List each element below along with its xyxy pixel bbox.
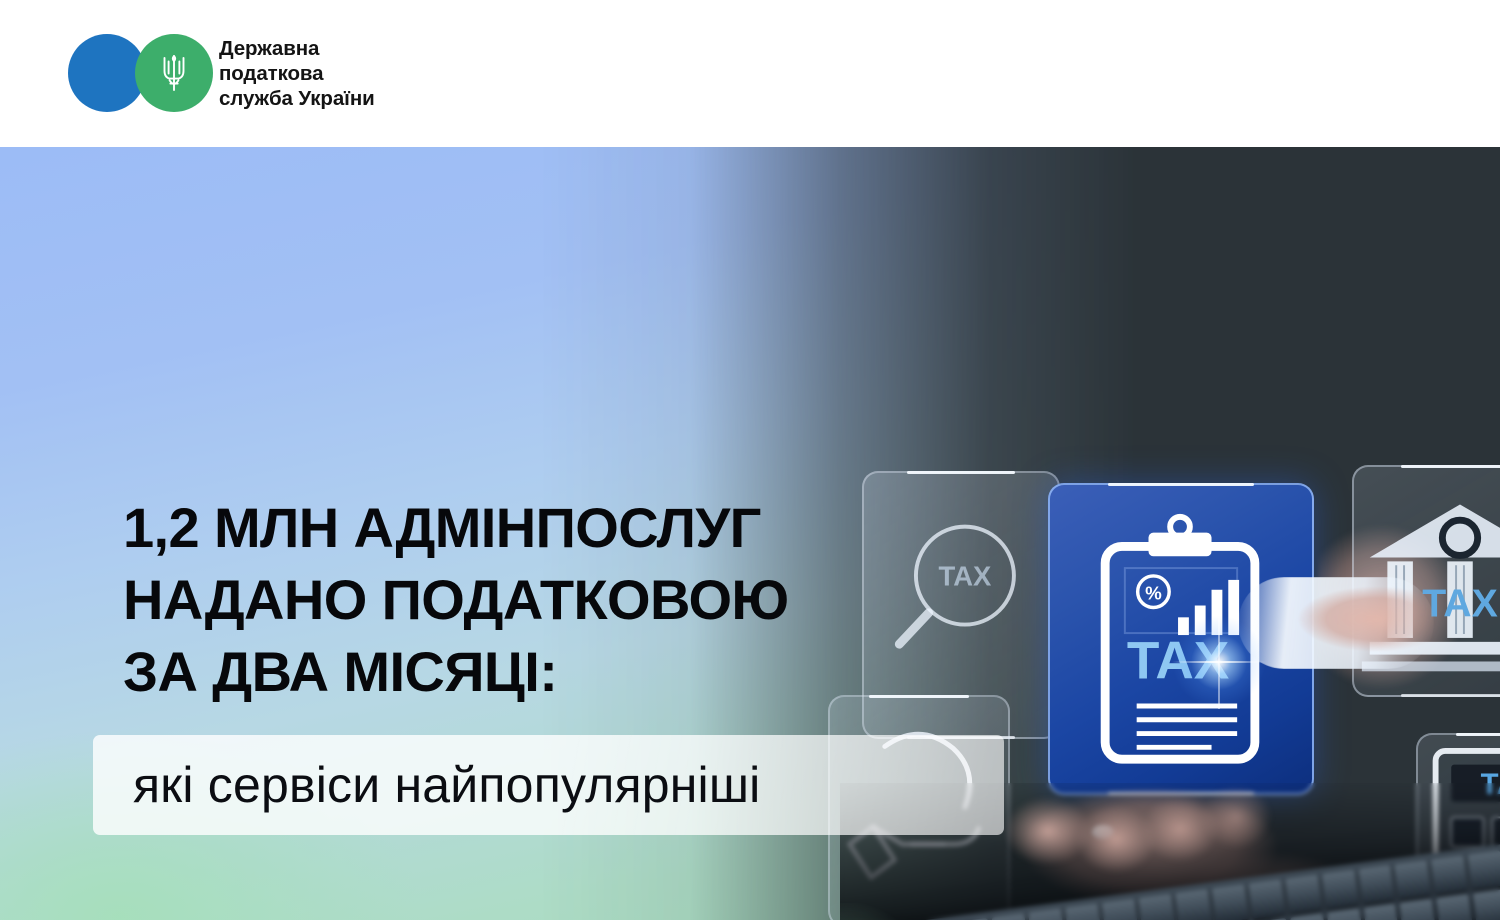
promo-banner: Державна податкова служба України TAX	[0, 0, 1500, 920]
svg-text:TAX: TAX	[939, 560, 993, 591]
typing-fingers-icon	[990, 783, 1290, 893]
logo-mark	[68, 34, 213, 112]
svg-text:%: %	[1145, 583, 1162, 604]
hero-stage: TAX	[0, 147, 1500, 920]
finger-pointing-icon	[1238, 577, 1434, 669]
organization-logo[interactable]: Державна податкова служба України	[68, 34, 375, 112]
page-subtitle: які сервіси найпопулярніші	[133, 747, 760, 823]
ukraine-trident-icon	[135, 34, 213, 112]
page-title: 1,2 МЛН АДМІНПОСЛУГ НАДАНО ПОДАТКОВОЮ ЗА…	[123, 492, 789, 708]
organization-name: Державна податкова служба України	[219, 36, 375, 111]
keyboard-green-glow	[840, 903, 1010, 920]
svg-text:TAX: TAX	[1127, 631, 1229, 690]
header-bar: Державна податкова служба України	[0, 0, 1500, 147]
